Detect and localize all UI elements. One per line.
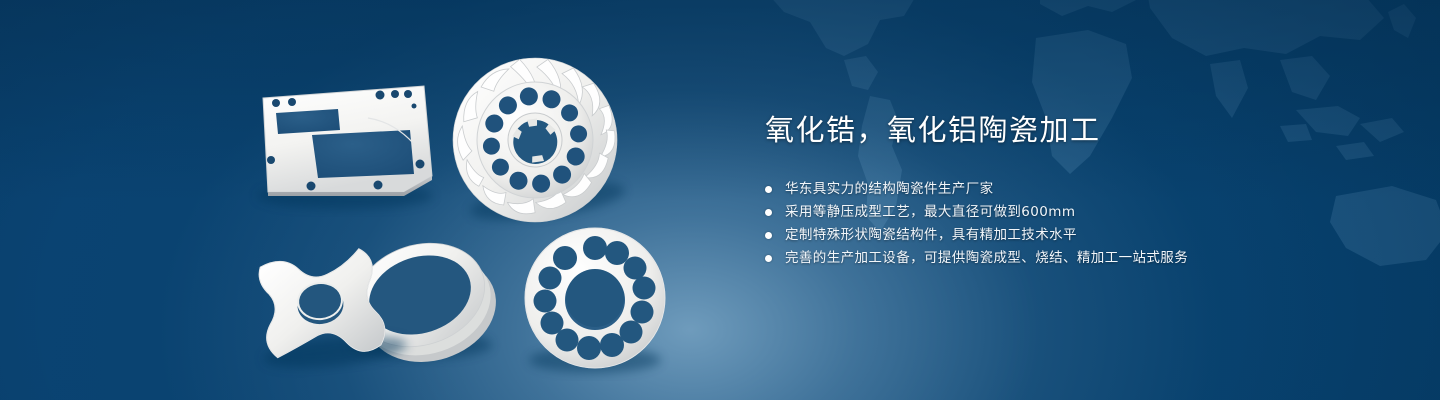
- feature-text: 完善的生产加工设备，可提供陶瓷成型、烧结、精加工一站式服务: [785, 247, 1188, 270]
- ceramic-products-image-group: [0, 0, 720, 400]
- ceramic-products-hero-banner: 氧化锆，氧化铝陶瓷加工 华东具实力的结构陶瓷件生产厂家 采用等静压成型工艺，最大…: [0, 0, 1440, 400]
- feature-text: 定制特殊形状陶瓷结构件，具有精加工技术水平: [785, 224, 1077, 247]
- bullet-dot-icon: [765, 186, 772, 193]
- list-item: 采用等静压成型工艺，最大直径可做到600mm: [765, 201, 1385, 224]
- ceramic-impeller-part: [442, 47, 627, 232]
- list-item: 华东具实力的结构陶瓷件生产厂家: [765, 178, 1385, 201]
- ceramic-perforated-disc-part: [525, 228, 665, 373]
- list-item: 定制特殊形状陶瓷结构件，具有精加工技术水平: [765, 224, 1385, 247]
- feature-text: 采用等静压成型工艺，最大直径可做到600mm: [785, 201, 1075, 224]
- bullet-dot-icon: [765, 232, 772, 239]
- banner-copy-block: 氧化锆，氧化铝陶瓷加工 华东具实力的结构陶瓷件生产厂家 采用等静压成型工艺，最大…: [765, 110, 1385, 270]
- banner-title: 氧化锆，氧化铝陶瓷加工: [765, 110, 1385, 150]
- ceramic-plate-part: [257, 86, 433, 209]
- bullet-dot-icon: [765, 255, 772, 262]
- bullet-dot-icon: [765, 209, 772, 216]
- list-item: 完善的生产加工设备，可提供陶瓷成型、烧结、精加工一站式服务: [765, 247, 1385, 270]
- banner-feature-list: 华东具实力的结构陶瓷件生产厂家 采用等静压成型工艺，最大直径可做到600mm 定…: [765, 178, 1385, 270]
- feature-text: 华东具实力的结构陶瓷件生产厂家: [785, 178, 994, 201]
